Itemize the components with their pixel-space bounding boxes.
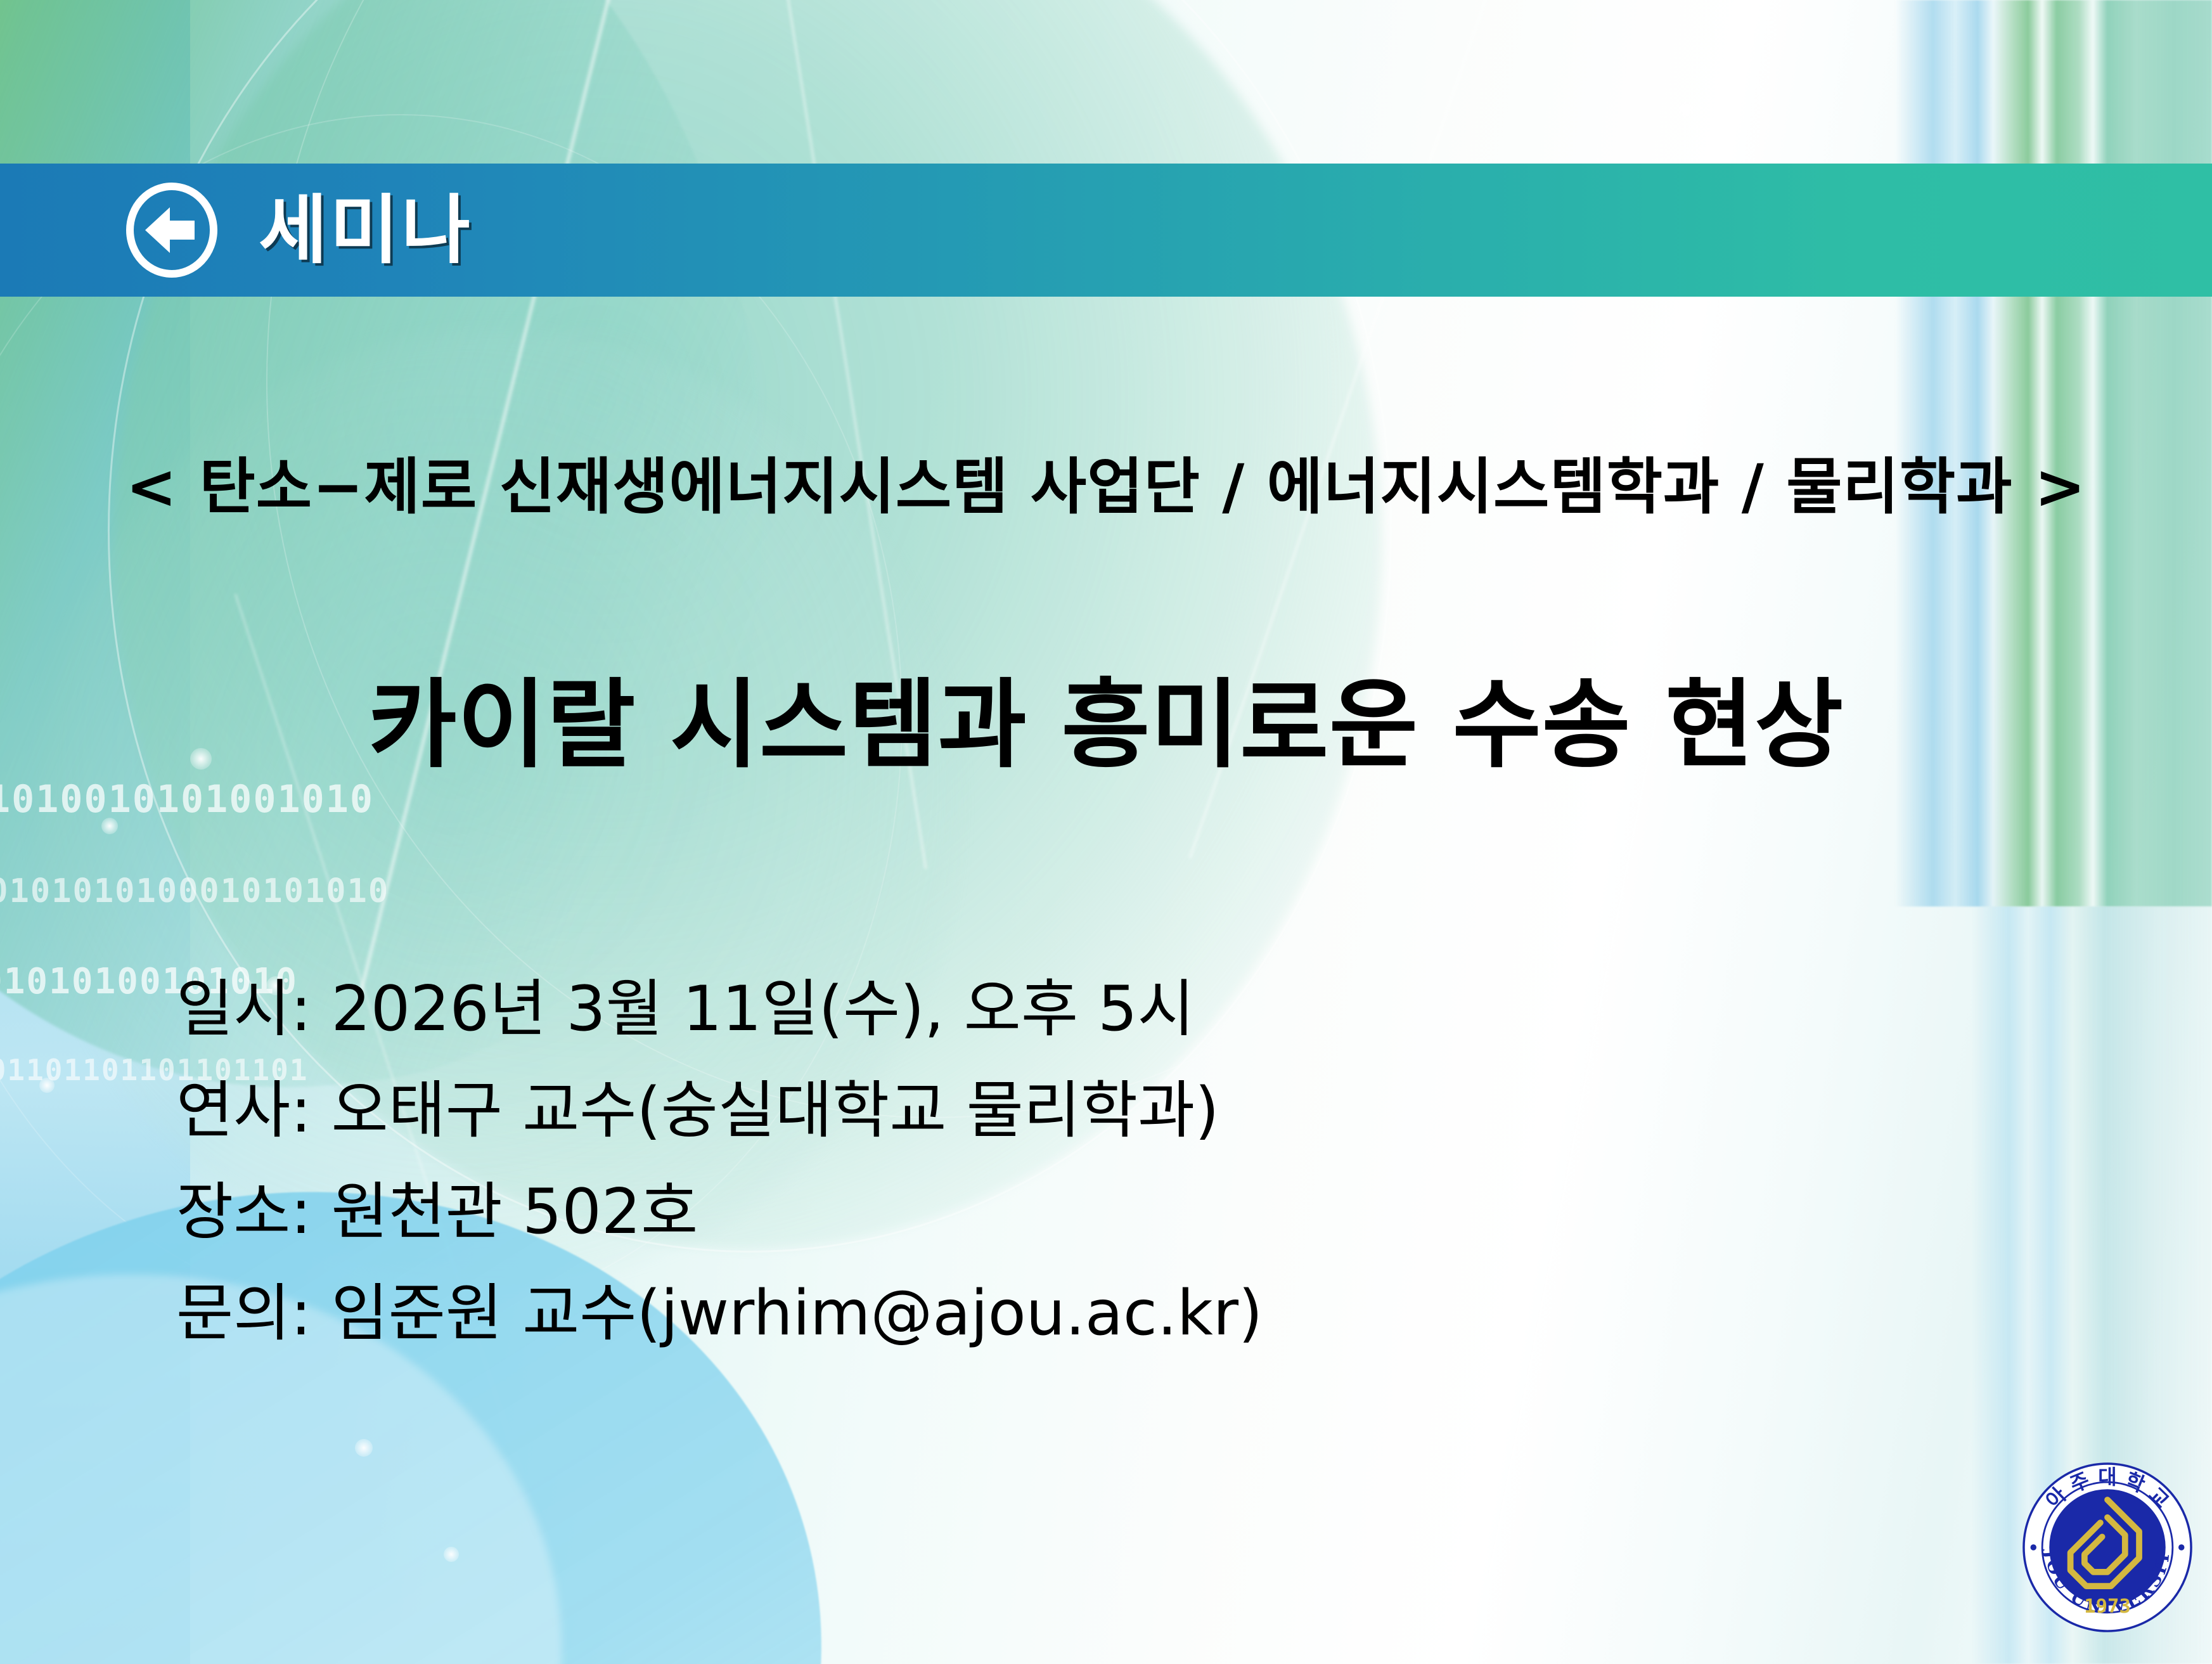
background-bokeh-dot (355, 1439, 373, 1457)
background-bokeh-dot (39, 1078, 55, 1093)
background-bokeh-dot (101, 818, 118, 834)
seminar-banner: 세미나 (0, 164, 2212, 297)
detail-line-datetime: 일시: 2026년 3월 11일(수), 오후 5시 (176, 958, 1263, 1060)
logo-right-dot (2178, 1544, 2184, 1550)
logo-year: 1973 (2084, 1596, 2131, 1618)
seminar-poster-slide: 1010010101001010 10101010100010101010 01… (0, 0, 2212, 1664)
ajou-university-seal-logo: 아 주 대 학 교 AJOU UNIVERSITY 1973 (2019, 1459, 2196, 1635)
seminar-main-title: 카이랄 시스템과 흥미로운 수송 현상 (0, 647, 2212, 786)
seminar-details-block: 일시: 2026년 3월 11일(수), 오후 5시 연사: 오태구 교수(숭실… (176, 958, 1263, 1364)
detail-line-speaker: 연사: 오태구 교수(숭실대학교 물리학과) (176, 1060, 1263, 1161)
banner-title: 세미나 (259, 193, 473, 268)
logo-left-dot (2031, 1544, 2036, 1550)
back-arrow-circle-icon[interactable] (124, 183, 219, 278)
organizer-subtitle: < 탄소−제로 신재생에너지시스템 사업단 / 에너지시스템학과 / 물리학과 … (0, 437, 2212, 526)
background-bokeh-dot (1673, 95, 1699, 124)
detail-line-contact: 문의: 임준원 교수(jwrhim@ajou.ac.kr) (176, 1263, 1263, 1364)
detail-line-location: 장소: 원천관 502호 (176, 1161, 1263, 1263)
background-bokeh-dot (444, 1547, 459, 1562)
